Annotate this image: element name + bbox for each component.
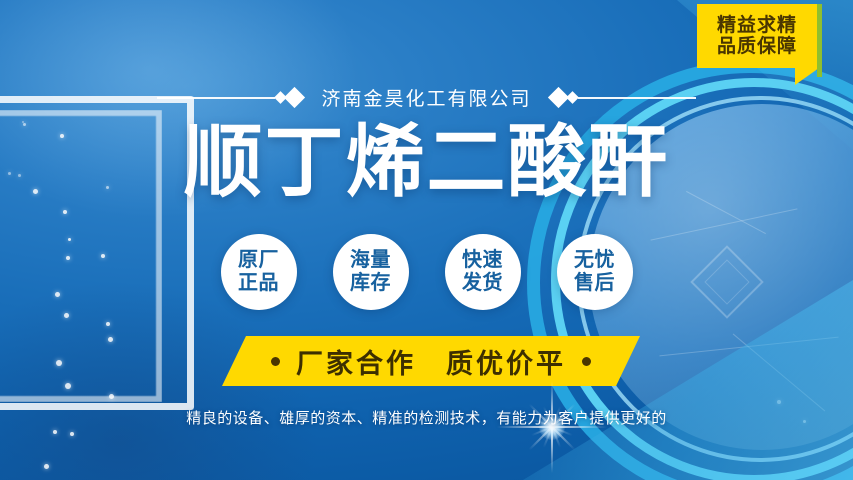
slogan-banner: 厂家合作 质优价平 bbox=[222, 336, 640, 386]
feature-label-line-1: 海量 bbox=[350, 249, 391, 272]
package-detail-line bbox=[733, 334, 826, 412]
feature-badge-shipping: 快速 发货 bbox=[445, 234, 521, 310]
feature-badge-aftersales: 无忧 售后 bbox=[557, 234, 633, 310]
right-rule-line bbox=[578, 97, 696, 99]
product-title: 顺丁烯二酸酐 bbox=[0, 122, 853, 201]
right-diamond-group bbox=[550, 90, 578, 105]
quality-badge-line-2: 品质保障 bbox=[717, 36, 797, 57]
bullet-dot-icon bbox=[582, 357, 591, 366]
promotional-banner: 精益求精 品质保障 济南金昊化工有限公司 顺丁烯二酸酐 原厂 正品 海量 库存 … bbox=[0, 0, 853, 480]
feature-label-line-1: 快速 bbox=[462, 249, 503, 272]
feature-badge-original: 原厂 正品 bbox=[221, 234, 297, 310]
particle-dot bbox=[44, 464, 49, 469]
particle-dot bbox=[70, 432, 74, 436]
left-diamond-group bbox=[275, 90, 303, 105]
feature-badge-stock: 海量 库存 bbox=[333, 234, 409, 310]
particle-dot bbox=[777, 400, 781, 404]
feature-label-line-2: 正品 bbox=[238, 272, 279, 295]
quality-assurance-badge: 精益求精 品质保障 bbox=[697, 4, 822, 68]
particle-dot bbox=[64, 313, 69, 318]
company-name-row: 济南金昊化工有限公司 bbox=[0, 84, 853, 111]
particle-dot bbox=[63, 210, 67, 214]
particle-dot bbox=[108, 337, 113, 342]
company-name: 济南金昊化工有限公司 bbox=[321, 84, 531, 111]
diamond-small-icon bbox=[566, 91, 579, 104]
particle-dot bbox=[65, 383, 71, 389]
feature-badges-row: 原厂 正品 海量 库存 快速 发货 无忧 售后 bbox=[0, 234, 853, 310]
quality-badge-tail bbox=[795, 68, 819, 85]
quality-badge-line-1: 精益求精 bbox=[717, 15, 797, 36]
feature-label-line-2: 售后 bbox=[574, 272, 615, 295]
bullet-dot-icon bbox=[271, 357, 280, 366]
tagline-text: 精良的设备、雄厚的资本、精准的检测技术，有能力为客户提供更好的 bbox=[0, 407, 853, 428]
slogan-text: 厂家合作 质优价平 bbox=[296, 342, 566, 381]
particle-dot bbox=[56, 360, 62, 366]
feature-label-line-1: 无忧 bbox=[574, 249, 615, 272]
diamond-large-icon bbox=[284, 87, 305, 108]
particle-dot bbox=[106, 322, 110, 326]
feature-label-line-2: 发货 bbox=[462, 272, 503, 295]
particle-dot bbox=[53, 430, 57, 434]
feature-label-line-2: 库存 bbox=[350, 272, 391, 295]
package-detail-line bbox=[659, 337, 838, 357]
feature-label-line-1: 原厂 bbox=[238, 249, 279, 272]
left-rule-line bbox=[157, 97, 275, 99]
particle-dot bbox=[109, 394, 114, 399]
quality-badge-tail-edge bbox=[817, 68, 822, 77]
